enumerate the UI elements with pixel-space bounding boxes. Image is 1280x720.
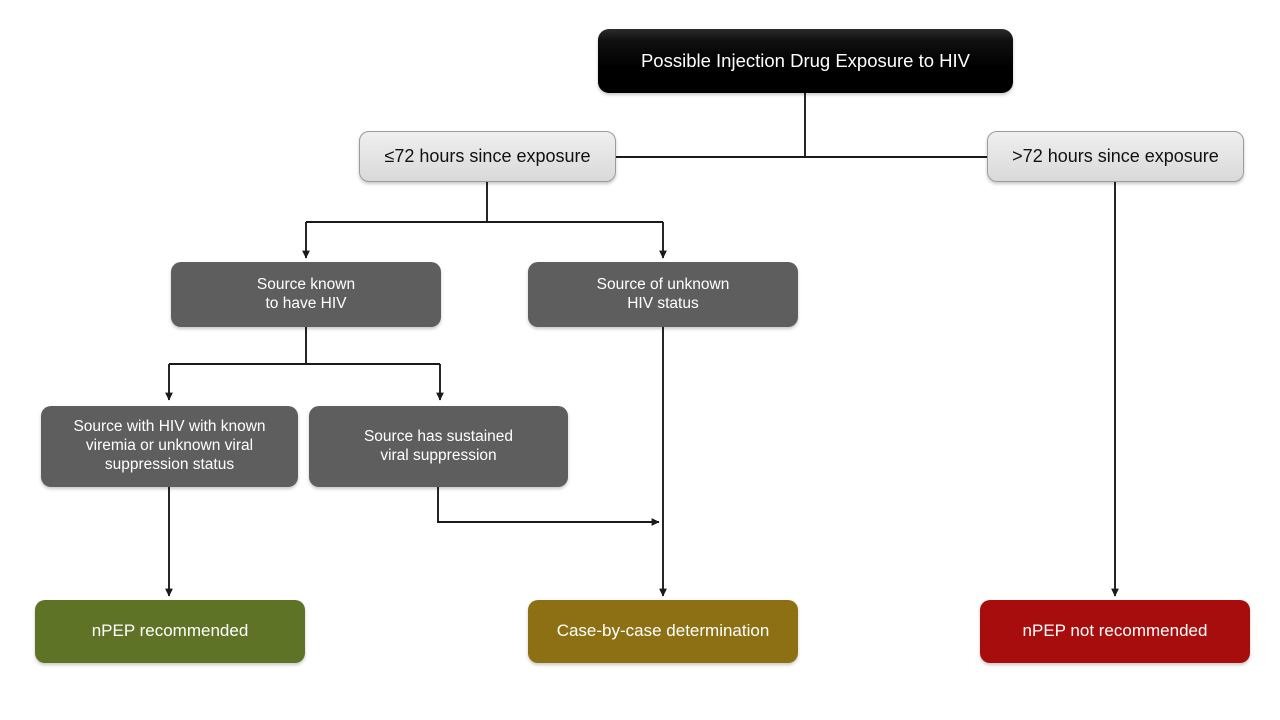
node-source-of-unknown-hiv-status[interactable]: Source of unknown HIV status (528, 262, 798, 327)
edge-suppressed-to-case-by-case (438, 487, 659, 522)
node-label: Source of unknown HIV status (597, 276, 730, 314)
node-possible-injection-drug-exposure[interactable]: Possible Injection Drug Exposure to HIV (598, 29, 1013, 93)
node-label: Case-by-case determination (557, 621, 770, 642)
node-label: Possible Injection Drug Exposure to HIV (641, 50, 970, 73)
node-label: >72 hours since exposure (1012, 146, 1219, 168)
node-case-by-case-determination[interactable]: Case-by-case determination (528, 600, 798, 663)
node-label: nPEP recommended (92, 621, 249, 642)
node-source-with-hiv-known-viremia[interactable]: Source with HIV with known viremia or un… (41, 406, 298, 487)
node-label: Source has sustained viral suppression (364, 428, 513, 466)
node-npep-not-recommended[interactable]: nPEP not recommended (980, 600, 1250, 663)
flowchart-canvas: Possible Injection Drug Exposure to HIV … (0, 0, 1280, 720)
node-npep-recommended[interactable]: nPEP recommended (35, 600, 305, 663)
node-label: nPEP not recommended (1023, 621, 1208, 642)
node-source-has-sustained-viral-suppression[interactable]: Source has sustained viral suppression (309, 406, 568, 487)
node-source-known-to-have-hiv[interactable]: Source known to have HIV (171, 262, 441, 327)
node-label: Source with HIV with known viremia or un… (73, 418, 265, 475)
node-label: Source known to have HIV (257, 276, 355, 314)
node-over-72-hours[interactable]: >72 hours since exposure (987, 131, 1244, 182)
node-label: ≤72 hours since exposure (385, 146, 591, 168)
node-within-72-hours[interactable]: ≤72 hours since exposure (359, 131, 616, 182)
